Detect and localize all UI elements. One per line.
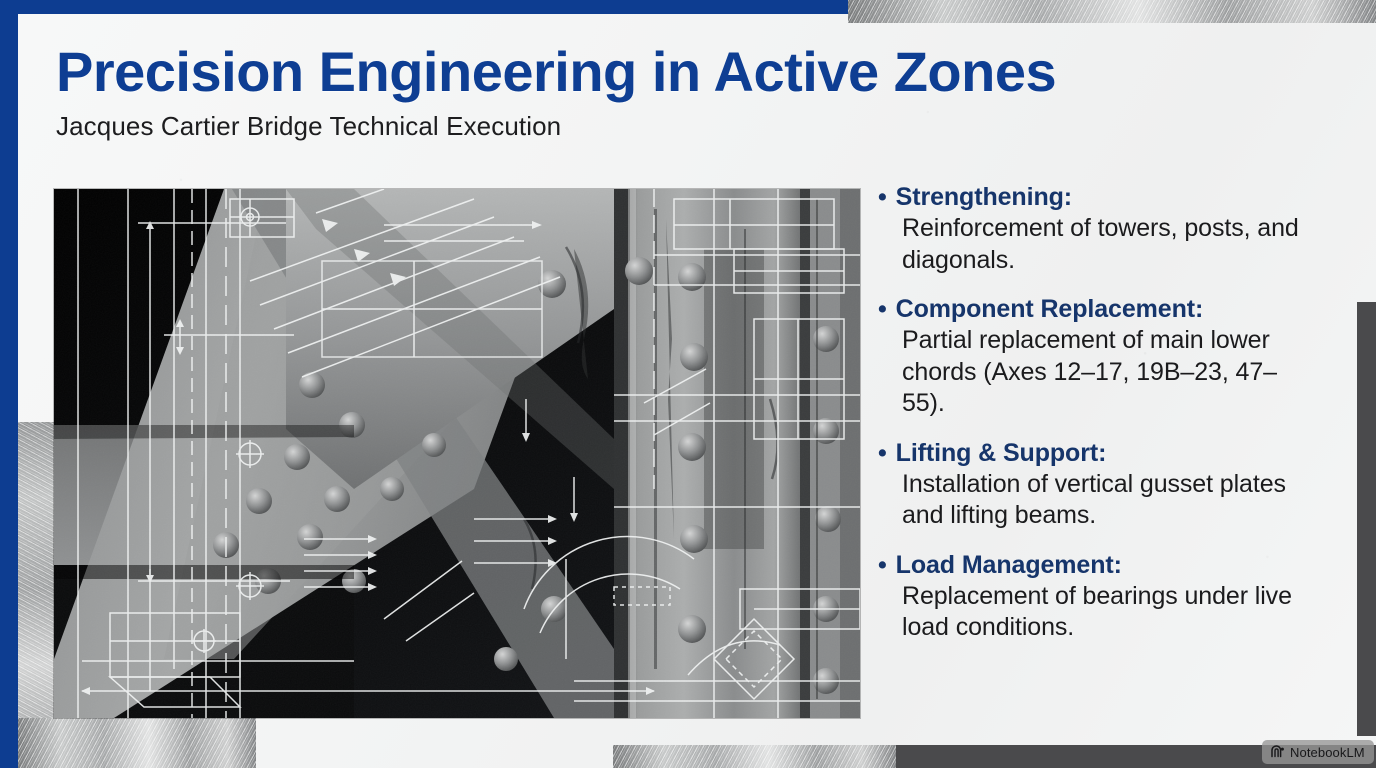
list-item: • Component Replacement: Partial replace…: [878, 294, 1310, 420]
bullet-dot-icon: •: [878, 438, 887, 469]
page-title: Precision Engineering in Active Zones: [56, 42, 1236, 101]
bullet-body: Reinforcement of towers, posts, and diag…: [902, 213, 1310, 276]
bridge-steelwork-photo: [54, 189, 860, 718]
decor-top-blue-band: [0, 0, 470, 14]
bullet-heading: Component Replacement:: [896, 294, 1204, 325]
bullet-body: Partial replacement of main lower chords…: [902, 325, 1310, 420]
bullet-heading-row: • Component Replacement:: [878, 294, 1310, 325]
bullet-list: • Strengthening: Reinforcement of towers…: [878, 182, 1310, 644]
list-item: • Load Management: Replacement of bearin…: [878, 550, 1310, 644]
slide-header: Precision Engineering in Active Zones Ja…: [56, 42, 1236, 142]
list-item: • Lifting & Support: Installation of ver…: [878, 438, 1310, 532]
bullet-dot-icon: •: [878, 550, 887, 581]
decor-bottom-left-metal-panel: [18, 718, 256, 768]
bullet-body: Replacement of bearings under live load …: [902, 581, 1310, 644]
bullet-dot-icon: •: [878, 182, 887, 213]
slide-canvas: Precision Engineering in Active Zones Ja…: [0, 0, 1376, 768]
bullet-heading-row: • Lifting & Support:: [878, 438, 1310, 469]
bullet-heading-row: • Load Management:: [878, 550, 1310, 581]
bullet-heading-row: • Strengthening:: [878, 182, 1310, 213]
decor-top-metal-band: [848, 0, 1376, 23]
bullet-heading: Strengthening:: [896, 182, 1072, 213]
list-item: • Strengthening: Reinforcement of towers…: [878, 182, 1310, 276]
notebooklm-watermark: NotebookLM: [1262, 740, 1374, 764]
bullet-heading: Lifting & Support:: [896, 438, 1107, 469]
page-subtitle: Jacques Cartier Bridge Technical Executi…: [56, 111, 1236, 142]
decor-left-metal-panel: [18, 422, 54, 768]
notebooklm-icon: [1270, 745, 1285, 759]
bullet-dot-icon: •: [878, 294, 887, 325]
decor-bottom-metal-band: [613, 745, 896, 768]
notebooklm-label: NotebookLM: [1290, 745, 1365, 760]
bullet-heading: Load Management:: [896, 550, 1122, 581]
decor-right-dark-band: [1357, 302, 1376, 736]
bullet-body: Installation of vertical gusset plates a…: [902, 469, 1310, 532]
